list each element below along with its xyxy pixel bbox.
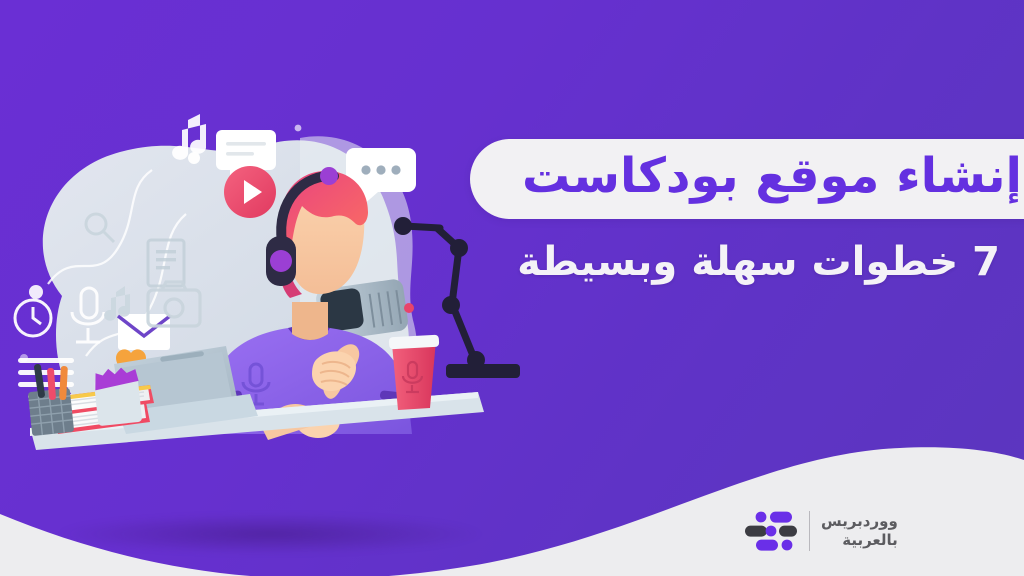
logo-line-2: بالعربية — [842, 531, 898, 550]
notepad — [93, 366, 142, 426]
banner-canvas: إنشاء موقع بودكاست 7 خطوات سهلة وبسيطة و… — [0, 0, 1024, 576]
podcast-illustration — [0, 96, 520, 456]
page-subtitle: 7 خطوات سهلة وبسيطة — [517, 237, 1000, 287]
logo-line-1: ووردبريس — [821, 512, 898, 531]
headline-pill: إنشاء موقع بودكاست — [470, 139, 1024, 219]
logo-divider — [809, 511, 810, 551]
logo-wordmark: ووردبريس بالعربية — [821, 512, 898, 550]
neck — [292, 302, 328, 340]
pens — [34, 364, 68, 401]
envelope-icon — [118, 314, 170, 350]
wordpress-arabic-dots-mark-icon — [744, 508, 798, 554]
illustration-svg — [0, 96, 520, 456]
play-button-badge — [224, 166, 276, 218]
brand-logo[interactable]: ووردبريس بالعربية — [744, 508, 898, 554]
page-title: إنشاء موقع بودكاست — [470, 139, 1024, 219]
clock-icon — [15, 300, 51, 336]
